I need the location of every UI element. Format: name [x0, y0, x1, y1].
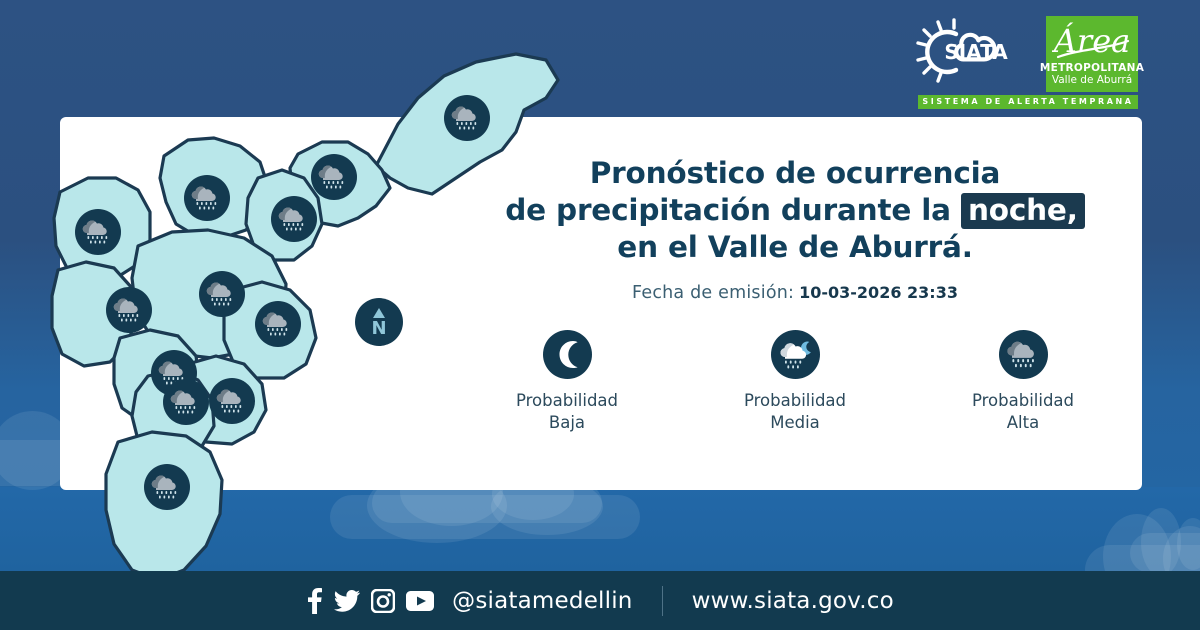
emission-date: Fecha de emisión:10-03-2026 23:33: [470, 283, 1120, 303]
legend-item-alta: Probabilidad Alta: [948, 330, 1098, 434]
weather-marker-bello[interactable]: [75, 209, 121, 255]
cloud-moon-rain-icon: [771, 330, 820, 379]
headline-line-1: Pronóstico de ocurrencia: [470, 155, 1120, 192]
headline-line-3: en el Valle de Aburrá.: [470, 229, 1120, 266]
weather-marker-medellin[interactable]: [199, 271, 245, 317]
area-metropolitana-logo: Área METROPOLITANA Valle de Aburrá: [1046, 16, 1138, 92]
footer-bar: @siatamedellin www.siata.gov.co: [0, 571, 1200, 630]
weather-marker-sabaneta[interactable]: [209, 378, 255, 424]
page-title: Pronóstico de ocurrencia de precipitació…: [470, 155, 1120, 266]
weather-marker-san-pedro[interactable]: [184, 175, 230, 221]
legend-item-baja: Probabilidad Baja: [492, 330, 642, 434]
legend-label-alta: Probabilidad Alta: [948, 390, 1098, 434]
legend-label-baja: Probabilidad Baja: [492, 390, 642, 434]
decorative-cloud-right-top: [1130, 533, 1200, 573]
forecast-panel: Pronóstico de ocurrencia de precipitació…: [470, 155, 1120, 434]
legend-alta-line1: Probabilidad: [948, 390, 1098, 412]
headline-line-2-text: de precipitación durante la: [505, 193, 951, 227]
cloud-rain-icon: [999, 330, 1048, 379]
legend-media-line2: Media: [720, 412, 870, 434]
youtube-icon[interactable]: [406, 591, 434, 611]
compass-label: N: [371, 318, 386, 339]
facebook-icon[interactable]: [306, 588, 323, 614]
siata-tagline: SISTEMA DE ALERTA TEMPRANA: [918, 95, 1138, 109]
emission-value: 10-03-2026 23:33: [799, 283, 958, 302]
weather-marker-caldas[interactable]: [144, 464, 190, 510]
weather-marker-la-estrella[interactable]: [163, 379, 209, 425]
instagram-icon[interactable]: [371, 589, 395, 613]
legend-label-media: Probabilidad Media: [720, 390, 870, 434]
legend-alta-line2: Alta: [948, 412, 1098, 434]
legend-item-media: Probabilidad Media: [720, 330, 870, 434]
logo-group: SIATA Área METROPOLITANA Valle de Aburrá: [912, 16, 1138, 92]
weather-marker-girardota[interactable]: [311, 154, 357, 200]
siata-logo: SIATA: [912, 16, 1040, 92]
legend-media-line1: Probabilidad: [720, 390, 870, 412]
twitter-icon[interactable]: [334, 590, 360, 612]
area-script-wordmark: Área: [1052, 17, 1132, 63]
area-logo-line2: Valle de Aburrá: [1052, 74, 1132, 87]
weather-marker-san-jeronimo[interactable]: [106, 287, 152, 333]
probability-legend: Probabilidad Baja: [470, 330, 1120, 434]
siata-wordmark: SIATA: [944, 40, 1008, 64]
headline-highlight-noche: noche,: [961, 193, 1085, 229]
legend-baja-line2: Baja: [492, 412, 642, 434]
legend-baja-line1: Probabilidad: [492, 390, 642, 412]
footer-divider: [662, 586, 663, 616]
compass-north-indicator: N: [355, 298, 403, 346]
social-icons: [306, 588, 434, 614]
headline-line-2: de precipitación durante la noche,: [470, 192, 1120, 229]
area-logo-line1: METROPOLITANA: [1040, 63, 1144, 74]
weather-marker-barbosa[interactable]: [444, 95, 490, 141]
weather-marker-copacabana[interactable]: [271, 196, 317, 242]
emission-label: Fecha de emisión:: [632, 283, 794, 303]
moon-icon: [543, 330, 592, 379]
social-handle[interactable]: @siatamedellin: [452, 588, 632, 614]
weather-marker-envigado[interactable]: [255, 301, 301, 347]
website-url[interactable]: www.siata.gov.co: [692, 588, 894, 614]
